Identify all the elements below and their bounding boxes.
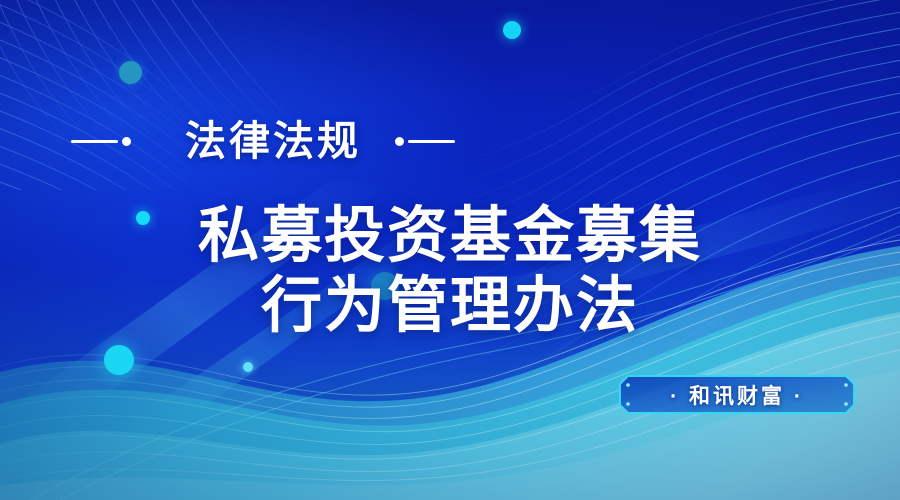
eyebrow-rule-line-right: [408, 140, 455, 143]
eyebrow-rule-line-left: [71, 140, 118, 143]
promotional-banner: 法律法规 私募投资基金募集 行为管理办法 · 和讯财富 ·: [0, 0, 900, 500]
category-label: 法律法规: [185, 121, 361, 162]
decorative-dot-behind-title: [371, 272, 399, 300]
eyebrow-rule-right: [395, 137, 455, 146]
decorative-dot-teal-large: [119, 61, 142, 84]
eyebrow-rule-dot-left: [122, 137, 131, 146]
eyebrow-rule-dot-right: [395, 137, 404, 146]
decorative-dot-cyan-small: [136, 211, 150, 225]
brand-badge-label: · 和讯财富 ·: [618, 374, 856, 415]
eyebrow-rule-left: [71, 137, 131, 146]
decorative-dot-cyan-lower: [104, 345, 134, 375]
category-eyebrow: 法律法规: [0, 112, 900, 170]
decorative-dot-cyan-tiny: [243, 362, 253, 372]
decorative-dot-cyan-top: [503, 21, 521, 39]
brand-badge: · 和讯财富 ·: [618, 374, 856, 415]
